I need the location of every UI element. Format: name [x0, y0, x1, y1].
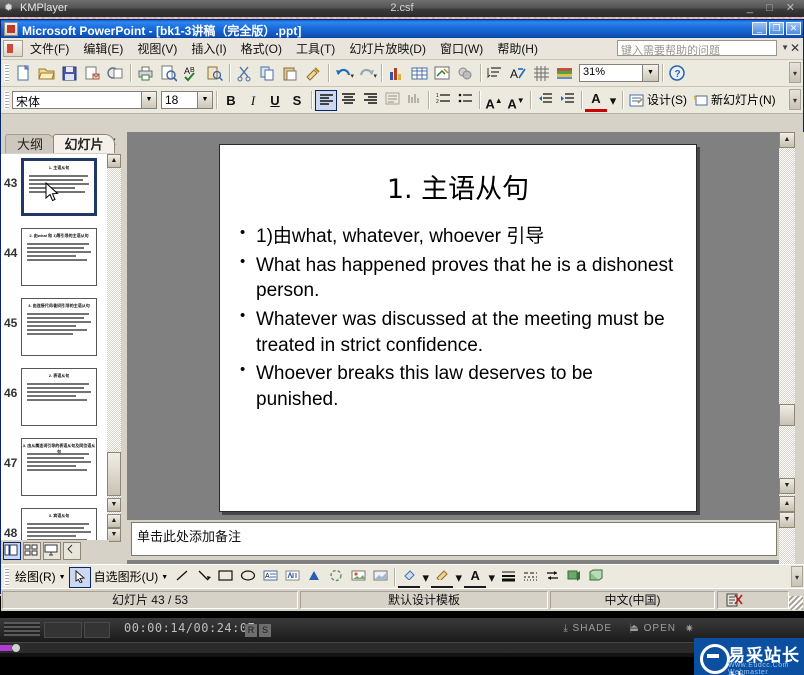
slide-title[interactable]: 1. 主语从句	[220, 145, 696, 206]
toolbar-separator	[381, 64, 382, 82]
scrollbar-thumb[interactable]	[107, 452, 121, 496]
formatting-toolbar: 宋体 ▼ 18 ▼ B I U S 12 A▲ A▼	[1, 87, 803, 114]
thumbnail-slide[interactable]: 3. 宾语从句	[21, 508, 97, 540]
watermark-subtext: Www.Eudcc.Com Webmaster	[728, 662, 804, 675]
thumbnail-title: 2. 表语从句	[22, 373, 96, 379]
scroll-up-button[interactable]: ▲	[779, 132, 795, 148]
align-left-icon[interactable]	[315, 90, 337, 111]
status-bar: 幻灯片 43 / 53 默认设计模板 中文(中国)	[1, 588, 804, 611]
thumbnail-item[interactable]: 483. 宾语从句	[1, 504, 107, 540]
thumbnail-number: 43	[4, 176, 17, 190]
design-icon	[629, 94, 644, 107]
toolbar-separator	[130, 64, 131, 82]
bullets-icon[interactable]	[454, 90, 476, 111]
next-slide-button[interactable]: ▼	[107, 528, 121, 542]
slide-total: 53	[175, 593, 188, 607]
thumbnail-body-lines	[27, 383, 92, 403]
increase-font-size-icon[interactable]: A▲	[483, 90, 505, 111]
fill-color-icon[interactable]	[398, 565, 420, 589]
kmplayer-window-buttons[interactable]: _ □ ✕	[747, 1, 800, 14]
minimize-button[interactable]: _	[752, 22, 767, 35]
thumbnail-title: 1. 主语从句	[24, 165, 94, 171]
new-file-icon[interactable]	[12, 62, 35, 84]
font-name-value: 宋体	[16, 95, 40, 109]
chevron-down-icon[interactable]: ▼	[161, 567, 168, 588]
seek-handle[interactable]	[12, 644, 20, 652]
toolbar-grip[interactable]	[4, 64, 9, 82]
italic-button[interactable]: I	[242, 90, 264, 111]
open-label: OPEN	[644, 623, 676, 634]
font-color-dropdown-caret[interactable]: ▾	[607, 90, 619, 111]
scroll-down-button[interactable]: ▼	[107, 498, 121, 512]
kmplayer-controls-row: 00:00:14/00:24:07 RS ⤓ SHADE | ⏏ OPEN ✷	[0, 618, 804, 640]
redo-icon[interactable]: ▾	[355, 62, 378, 84]
align-justify-icon[interactable]	[381, 90, 403, 111]
format-painter-icon[interactable]	[302, 62, 325, 84]
insert-image-icon[interactable]	[369, 567, 391, 588]
thumbnail-title: 3. 由连接代词/副词引导的主语从句	[22, 303, 96, 309]
increase-font-letter: A	[485, 96, 494, 111]
toolbar-separator	[530, 91, 531, 109]
slide-sorter-view-button[interactable]	[23, 542, 41, 560]
zoom-dropdown-caret[interactable]: ▼	[642, 65, 658, 81]
permission-icon[interactable]	[104, 62, 127, 84]
thumbnail-number: 45	[4, 316, 17, 330]
drawing-toolbar: 绘图(R) ▼ 自选图形(U) ▼ A ▾ ▾ A ▾	[1, 564, 804, 589]
document-control-icon[interactable]	[3, 40, 23, 57]
slide-bullet: Whatever was discussed at the meeting mu…	[256, 307, 678, 358]
menu-item-window[interactable]: 窗口(W)	[433, 39, 490, 59]
slide-bullet: 1)由what, whatever, whoever 引导	[256, 224, 678, 250]
previous-slide-button[interactable]: ▲	[779, 496, 795, 512]
toolbar-separator	[479, 91, 480, 109]
align-center-icon[interactable]	[337, 90, 359, 111]
show-formatting-icon[interactable]	[484, 62, 507, 84]
powerpoint-title-text: Microsoft PowerPoint - [bk1-3讲稿（完全版）.ppt…	[22, 22, 301, 39]
menu-item-insert[interactable]: 插入(I)	[184, 39, 233, 59]
chevron-down-icon[interactable]: ▼	[781, 43, 789, 52]
menu-item-file[interactable]: 文件(F)	[23, 39, 76, 59]
scroll-up-button[interactable]: ▲	[107, 154, 121, 168]
new-slide-label: 新幻灯片(N)	[711, 90, 776, 111]
window-right-edge	[795, 132, 804, 564]
menu-item-help[interactable]: 帮助(H)	[490, 39, 545, 59]
design-template-status: 默认设计模板	[300, 591, 548, 609]
repeat-badge[interactable]: R	[245, 624, 257, 637]
slide-stage: 1. 主语从句 1)由what, whatever, whoever 引导Wha…	[127, 132, 779, 564]
autoshapes-label: 自选图形(U)	[94, 567, 159, 588]
thumbnail-item[interactable]: 473. 由从属连词引导的表语从句及同位语从句	[1, 434, 107, 504]
gear-icon[interactable]: ✷	[685, 622, 694, 635]
equalizer-display[interactable]	[4, 622, 40, 636]
cut-icon[interactable]	[233, 62, 256, 84]
shade-label: SHADE	[573, 623, 612, 634]
word-art-icon[interactable]	[281, 567, 303, 588]
toolbar-separator	[311, 91, 312, 109]
slide-body[interactable]: 1)由what, whatever, whoever 引导What has ha…	[220, 224, 696, 412]
undo-dropdown-caret[interactable]: ▾	[350, 72, 354, 80]
powerpoint-window: Microsoft PowerPoint - [bk1-3讲稿（完全版）.ppt…	[0, 19, 804, 594]
transport-slot-b[interactable]	[84, 622, 110, 638]
powerpoint-titlebar: Microsoft PowerPoint - [bk1-3讲稿（完全版）.ppt…	[1, 20, 803, 38]
slide-show-view-button[interactable]	[43, 542, 61, 560]
font-color-icon[interactable]: A	[585, 88, 607, 112]
thumbnail-body-lines	[27, 453, 92, 473]
toolbar-grip[interactable]	[4, 91, 9, 109]
copy-icon[interactable]	[256, 62, 279, 84]
drawing-toolbar-overflow[interactable]: ▾	[791, 566, 803, 587]
3d-style-icon[interactable]	[585, 567, 607, 588]
standard-toolbar-overflow[interactable]: ▾	[789, 62, 801, 83]
toolbar-separator	[229, 64, 230, 82]
slide-label: 幻灯片	[112, 593, 148, 607]
align-right-icon[interactable]	[359, 90, 381, 111]
font-color-dropdown-caret[interactable]: ▾	[486, 567, 497, 588]
thumbnail-number: 48	[4, 526, 17, 540]
notes-pane: 单击此处添加备注	[127, 520, 779, 560]
insert-picture-icon[interactable]	[347, 567, 369, 588]
kmplayer-file-name: 2.csf	[0, 2, 804, 14]
line-icon[interactable]	[171, 567, 193, 588]
notes-placeholder[interactable]: 单击此处添加备注	[131, 522, 777, 556]
toolbar-separator	[581, 91, 582, 109]
design-button[interactable]: 设计(S)	[626, 90, 690, 111]
toolbar-separator	[328, 64, 329, 82]
design-label: 设计(S)	[647, 90, 687, 111]
slides-pane: 大纲 幻灯片 ✕ 431. 主语从句442. 由what 和 1)等引导的主语从…	[1, 132, 121, 564]
autoshapes-menu-button[interactable]: 自选图形(U) ▼	[91, 567, 172, 588]
kmplayer-control-bar: 00:00:14/00:24:07 RS ⤓ SHADE | ⏏ OPEN ✷ …	[0, 618, 804, 657]
shade-button[interactable]: ⤓ SHADE	[563, 623, 612, 634]
slide-scrollbar[interactable]: ▲ ▼ ▲ ▼	[779, 132, 795, 564]
next-slide-button[interactable]: ▼	[779, 512, 795, 528]
svg-text:?: ?	[675, 69, 681, 80]
menu-item-slideshow[interactable]: 幻灯片放映(D)	[342, 39, 433, 59]
thumbnail-slide[interactable]: 2. 由what 和 1)等引导的主语从句	[21, 228, 97, 286]
fill-color-dropdown-caret[interactable]: ▾	[420, 567, 431, 588]
slide-bullet: Whoever breaks this law deserves to be p…	[256, 361, 678, 412]
toolbar-separator	[480, 64, 481, 82]
arrow-style-icon[interactable]	[541, 567, 563, 588]
slide-separator: /	[168, 593, 171, 607]
slide-bullet: What has happened proves that he is a di…	[256, 253, 678, 304]
svg-text:A: A	[510, 67, 518, 81]
font-size-value: 18	[165, 93, 178, 107]
current-slide[interactable]: 1. 主语从句 1)由what, whatever, whoever 引导Wha…	[219, 144, 697, 512]
menu-bar: 文件(F) 编辑(E) 视图(V) 插入(I) 格式(O) 工具(T) 幻灯片放…	[1, 38, 803, 60]
dash-style-icon[interactable]	[519, 567, 541, 588]
transport-slot-a[interactable]	[44, 622, 82, 638]
picture-effects-icon[interactable]	[454, 62, 477, 84]
text-box-icon[interactable]: A	[259, 567, 281, 588]
thumbnail-number: 47	[4, 456, 17, 470]
print-preview-icon[interactable]	[157, 62, 180, 84]
text-shadow-button[interactable]: S	[286, 90, 308, 111]
tab-outline[interactable]: 大纲	[5, 134, 55, 153]
print-icon[interactable]	[134, 62, 157, 84]
thumbnail-item[interactable]: 453. 由连接代词/副词引导的主语从句	[1, 294, 107, 364]
ime-status[interactable]	[717, 591, 789, 609]
font-size-dropdown-caret[interactable]: ▼	[197, 92, 212, 108]
view-buttons-group	[1, 540, 109, 562]
numbering-icon[interactable]: 12	[432, 90, 454, 111]
bold-button[interactable]: B	[220, 90, 242, 111]
formatting-toolbar-overflow[interactable]: ▾	[789, 89, 801, 110]
toolbar-separator	[216, 91, 217, 109]
font-size-combobox[interactable]: 18 ▼	[161, 91, 213, 109]
language-status: 中文(中国)	[550, 591, 715, 609]
menu-item-view[interactable]: 视图(V)	[130, 39, 184, 59]
thumbnail-number: 44	[4, 246, 17, 260]
shuffle-badge[interactable]: S	[259, 624, 271, 637]
powerpoint-window-buttons[interactable]: _ ❐ ✕	[752, 22, 801, 35]
insert-diagram-icon[interactable]	[303, 567, 325, 588]
thumbnail-body-lines	[27, 313, 92, 337]
close-document-button[interactable]: ✕	[790, 41, 800, 55]
watermark-ring-icon	[700, 644, 730, 674]
thumbnail-number: 46	[4, 386, 17, 400]
pane-tabs: 大纲 幻灯片 ✕	[1, 132, 121, 154]
thumbnail-item[interactable]: 462. 表语从句	[1, 364, 107, 434]
thumbnail-item[interactable]: 442. 由what 和 1)等引导的主语从句	[1, 224, 107, 294]
thumbnail-scrollbar[interactable]: ▲ ▼ ▲ ▼	[107, 154, 121, 540]
toolbar-separator	[662, 64, 663, 82]
kmplayer-titlebar: ✹ KMPlayer 2.csf _ □ ✕	[0, 0, 804, 17]
thumbnail-list[interactable]: 431. 主语从句442. 由what 和 1)等引导的主语从句453. 由连接…	[1, 154, 107, 540]
mail-recipient-icon[interactable]	[81, 62, 104, 84]
paste-icon[interactable]	[279, 62, 302, 84]
toolbar-separator	[428, 91, 429, 109]
time-display: 00:00:14/00:24:07	[124, 621, 255, 635]
toolbar-separator	[622, 91, 623, 109]
standard-toolbar: AB ▾ ▾ A 31% ▼ ? ▾	[1, 60, 803, 87]
menu-item-tools[interactable]: 工具(T)	[289, 39, 342, 59]
redo-dropdown-caret[interactable]: ▾	[373, 72, 377, 80]
line-color-icon[interactable]	[431, 565, 453, 589]
thumbnail-slide[interactable]: 3. 由从属连词引导的表语从句及同位语从句	[21, 438, 97, 496]
thumbnail-slide[interactable]: 3. 由连接代词/副词引导的主语从句	[21, 298, 97, 356]
toolbar-grip[interactable]	[4, 568, 9, 586]
arrow-icon[interactable]	[193, 567, 215, 588]
columns-icon[interactable]	[403, 90, 425, 111]
rectangle-icon[interactable]	[215, 567, 237, 588]
draw-label: 绘图(R)	[15, 567, 56, 588]
insert-table-icon[interactable]	[408, 62, 431, 84]
slide-counter: 幻灯片 43 / 53	[2, 591, 298, 609]
font-name-combobox[interactable]: 宋体 ▼	[12, 91, 157, 109]
seek-bar[interactable]	[0, 642, 804, 653]
ime-icon	[726, 593, 744, 607]
menu-item-format[interactable]: 格式(O)	[234, 39, 289, 59]
research-icon[interactable]	[203, 62, 226, 84]
thumbnail-body-lines	[27, 523, 92, 540]
zoom-value: 31%	[583, 66, 605, 78]
open-button[interactable]: ⏏ OPEN	[629, 623, 676, 634]
insert-diagram-icon[interactable]	[431, 62, 454, 84]
svg-text:A: A	[265, 573, 270, 580]
color-scheme-icon[interactable]	[553, 62, 576, 84]
thumbnail-title: 2. 由what 和 1)等引导的主语从句	[22, 233, 96, 239]
new-slide-icon	[693, 94, 708, 107]
thumbnail-item[interactable]: 431. 主语从句	[1, 154, 107, 224]
grayscale-icon[interactable]: A	[507, 62, 530, 84]
previous-slide-button[interactable]: ▲	[107, 514, 121, 528]
menu-item-edit[interactable]: 编辑(E)	[76, 39, 130, 59]
oval-icon[interactable]	[237, 567, 259, 588]
promote-icon[interactable]	[534, 90, 556, 111]
demote-icon[interactable]	[556, 90, 578, 111]
close-button[interactable]: ✕	[786, 22, 801, 35]
new-slide-button[interactable]: 新幻灯片(N)	[690, 90, 779, 111]
select-arrow-icon[interactable]	[69, 567, 91, 588]
underline-button[interactable]: U	[264, 90, 286, 111]
spelling-check-icon[interactable]: AB	[180, 62, 203, 84]
help-icon[interactable]: ?	[666, 62, 689, 84]
decrease-font-letter: A	[507, 96, 516, 111]
thumbnail-title: 3. 宾语从句	[22, 513, 96, 519]
pane-resize-left-button[interactable]	[63, 542, 81, 560]
status-badges: RS	[245, 622, 273, 637]
insert-clip-art-icon[interactable]	[325, 567, 347, 588]
svg-text:B: B	[190, 67, 195, 74]
draw-menu-button[interactable]: 绘图(R) ▼	[12, 567, 69, 588]
screen-root: ✹ KMPlayer 2.csf _ □ ✕ Microsoft PowerPo…	[0, 0, 804, 657]
undo-icon[interactable]: ▾	[332, 62, 355, 84]
thumbnail-body-lines	[27, 243, 92, 263]
grid-icon[interactable]	[530, 62, 553, 84]
svg-text:2: 2	[436, 99, 439, 105]
zoom-combobox[interactable]: 31% ▼	[579, 64, 659, 82]
scroll-down-button[interactable]: ▼	[779, 478, 795, 494]
restore-button[interactable]: ❐	[769, 22, 784, 35]
toolbar-separator	[394, 568, 395, 586]
seek-progress	[0, 645, 12, 651]
normal-view-button[interactable]	[3, 542, 21, 560]
insert-chart-icon[interactable]	[385, 62, 408, 84]
font-name-dropdown-caret[interactable]: ▼	[141, 92, 156, 108]
chevron-down-icon[interactable]: ▼	[59, 567, 66, 588]
scrollbar-thumb[interactable]	[779, 404, 795, 426]
ask-a-question-input[interactable]: 键入需要帮助的问题	[617, 40, 777, 56]
tab-slides[interactable]: 幻灯片	[53, 134, 115, 153]
resize-gripper[interactable]	[789, 596, 803, 610]
thumbnail-slide[interactable]: 2. 表语从句	[21, 368, 97, 426]
powerpoint-app-icon	[4, 22, 18, 36]
line-style-icon[interactable]	[497, 567, 519, 588]
decrease-font-size-icon[interactable]: A▼	[505, 90, 527, 111]
work-area: 大纲 幻灯片 ✕ 431. 主语从句442. 由what 和 1)等引导的主语从…	[1, 132, 804, 564]
slide-current: 43	[151, 593, 164, 607]
save-icon[interactable]	[58, 62, 81, 84]
open-folder-icon[interactable]	[35, 62, 58, 84]
shadow-style-icon[interactable]	[563, 567, 585, 588]
font-color-icon[interactable]: A	[464, 565, 486, 589]
line-color-dropdown-caret[interactable]: ▾	[453, 567, 464, 588]
